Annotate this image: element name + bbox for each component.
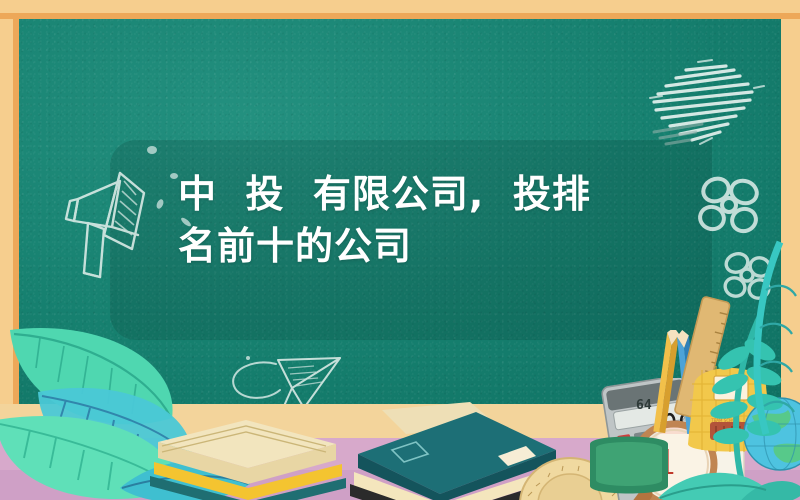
book-stack-left xyxy=(150,400,350,500)
headline-line-1: 中 投 有限公司, 投排 xyxy=(178,172,591,216)
page-title: 中 投 有限公司, 投排名前十的公司 xyxy=(178,168,698,272)
foliage-bottom-right xyxy=(648,448,800,500)
foliage-right-upper xyxy=(736,236,800,436)
headline-line-2: 名前十的公司 xyxy=(178,224,412,268)
chalk-scribble-cloud xyxy=(640,48,770,153)
banner-image: 中 投 有限公司, 投排名前十的公司 xyxy=(0,0,800,500)
